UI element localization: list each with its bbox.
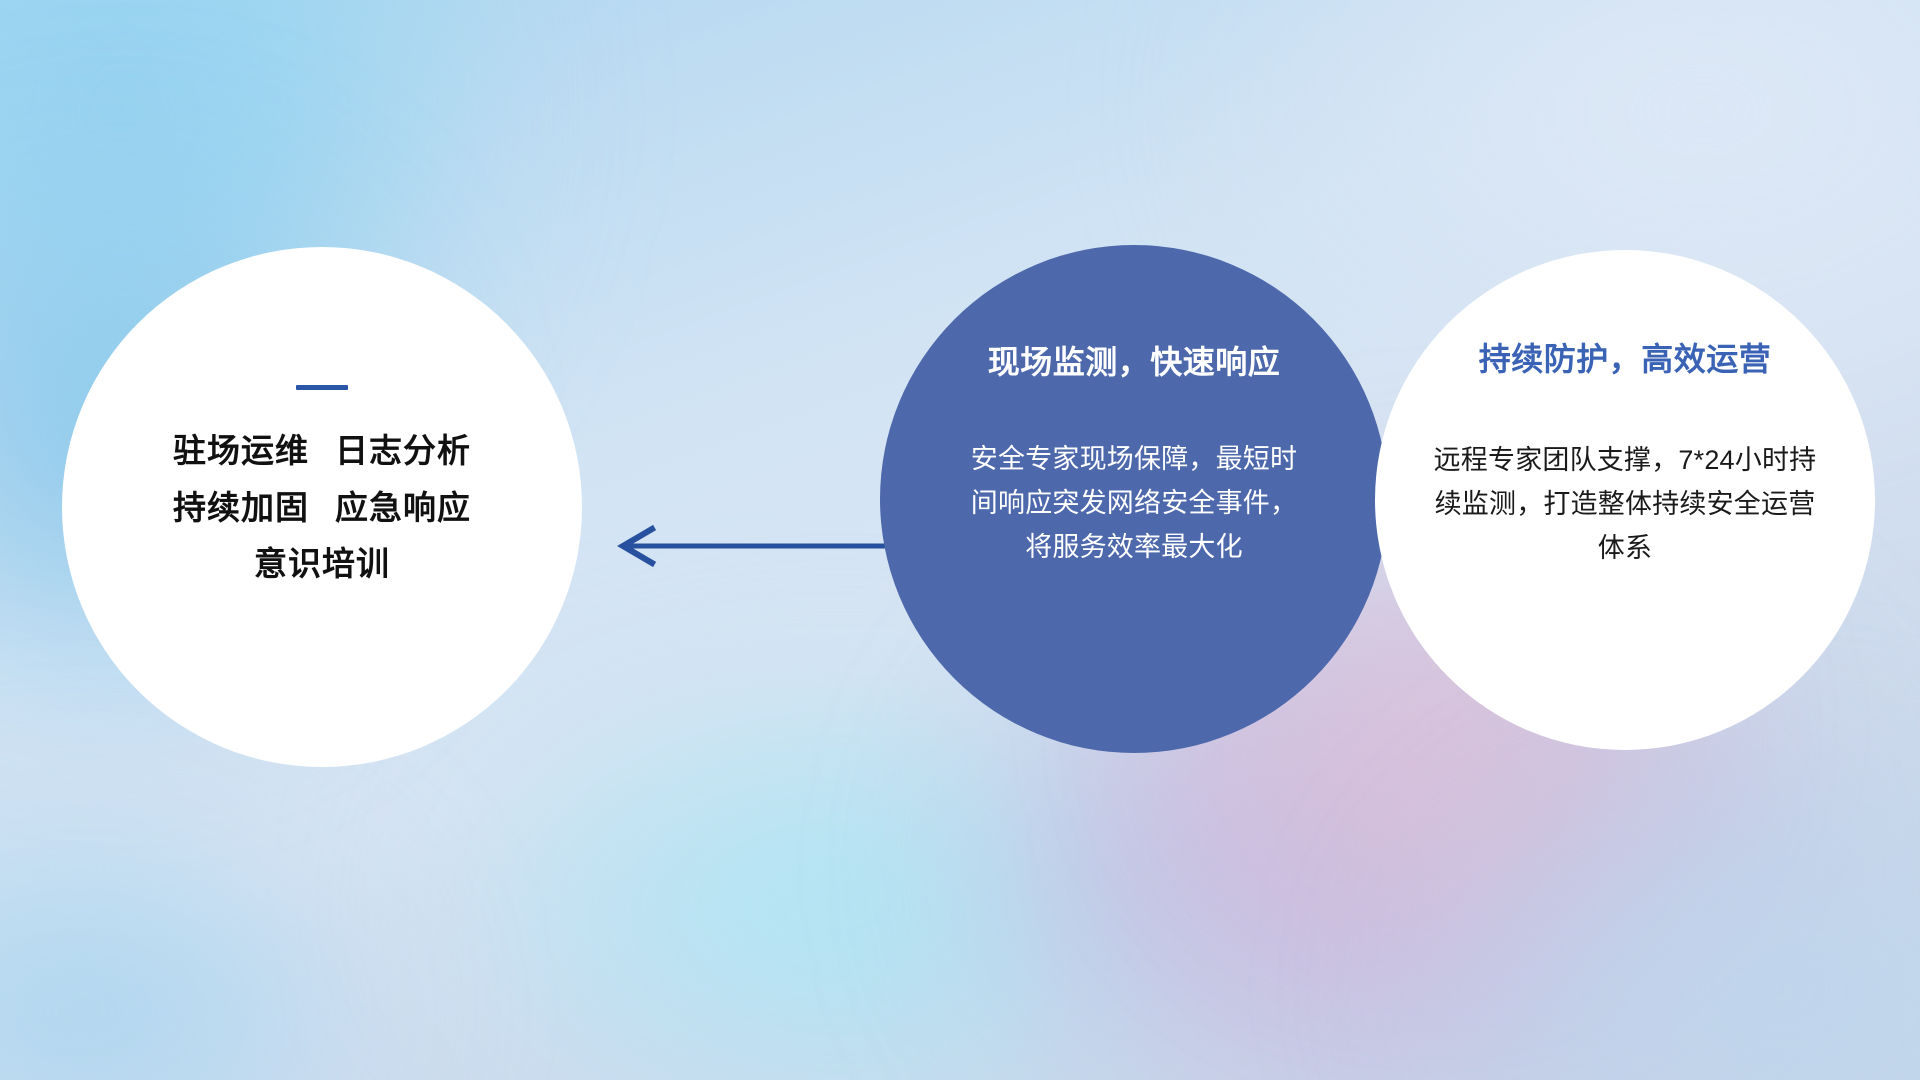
capability-item-chixujiagu: 持续加固 xyxy=(173,489,309,526)
capability-item-yingjixiangying: 应急响应 xyxy=(335,489,471,526)
slide-canvas: 驻场运维日志分析 持续加固应急响应 意识培训 现场监测，快速响应 安全专家现场保… xyxy=(0,0,1920,1080)
capability-item-yishipeixun: 意识培训 xyxy=(254,545,390,582)
remote-body: 远程专家团队支撑，7*24小时持续监测，打造整体持续安全运营体系 xyxy=(1425,439,1825,570)
capability-line-1: 驻场运维日志分析 xyxy=(173,434,471,469)
divider-bar xyxy=(296,385,348,390)
capability-item-zhuchangyunwei: 驻场运维 xyxy=(173,432,309,469)
remote-heading: 持续防护，高效运营 xyxy=(1479,342,1772,377)
feature-circle-onsite[interactable]: 现场监测，快速响应 安全专家现场保障，最短时间响应突发网络安全事件，将服务效率最… xyxy=(880,245,1388,753)
flow-arrow-left xyxy=(608,516,886,576)
arrow-left-icon xyxy=(608,516,886,576)
feature-circle-remote[interactable]: 持续防护，高效运营 远程专家团队支撑，7*24小时持续监测，打造整体持续安全运营… xyxy=(1375,250,1875,750)
capability-item-rizhifenxi: 日志分析 xyxy=(335,432,471,469)
capability-circle-left[interactable]: 驻场运维日志分析 持续加固应急响应 意识培训 xyxy=(62,247,582,767)
capability-list: 驻场运维日志分析 持续加固应急响应 意识培训 xyxy=(173,434,471,582)
capability-line-3: 意识培训 xyxy=(254,547,390,582)
onsite-heading: 现场监测，快速响应 xyxy=(988,345,1281,380)
capability-line-2: 持续加固应急响应 xyxy=(173,491,471,526)
onsite-body: 安全专家现场保障，最短时间响应突发网络安全事件，将服务效率最大化 xyxy=(969,438,1299,569)
